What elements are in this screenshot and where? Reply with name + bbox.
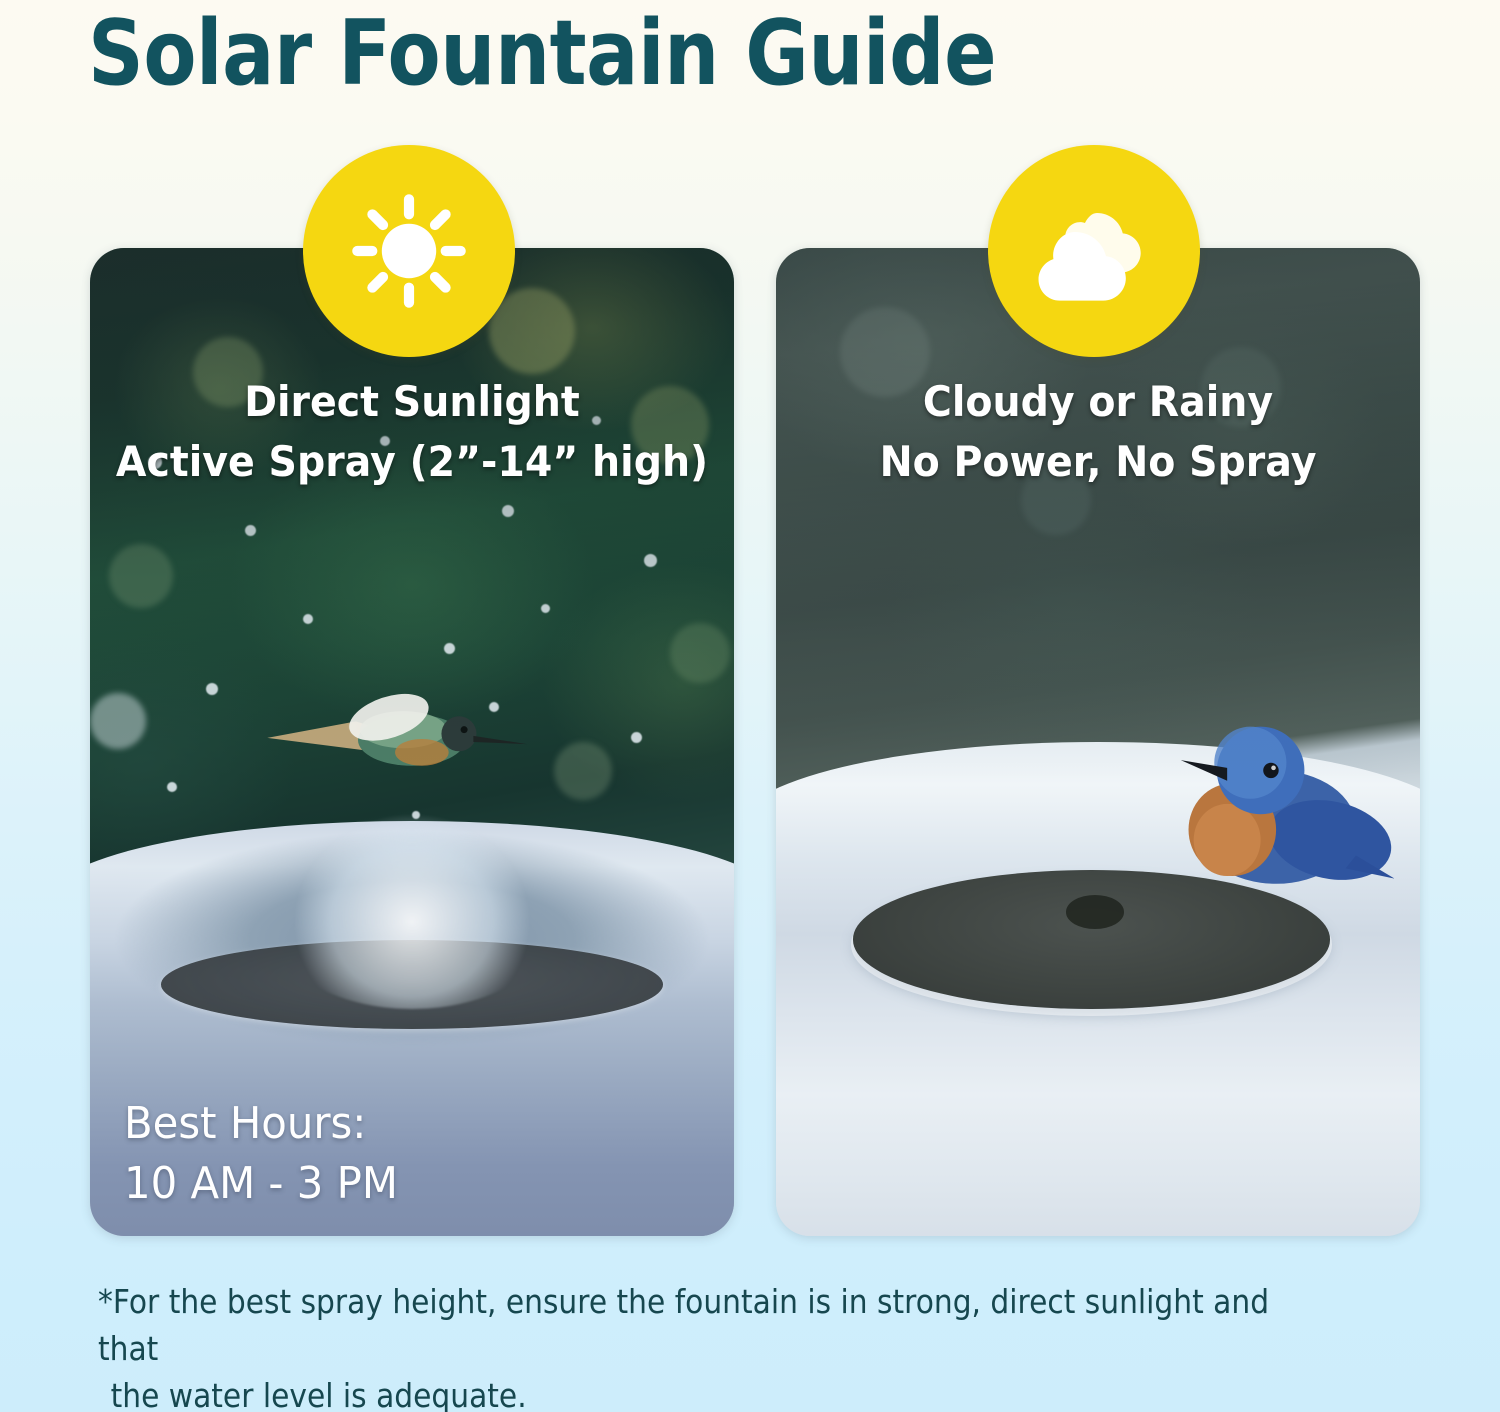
best-hours-label: Best Hours: [124, 1094, 398, 1154]
infographic-page: Solar Fountain Guide [0, 0, 1500, 1412]
bokeh-circle [670, 623, 730, 683]
bokeh-circle [109, 544, 173, 608]
footnote-line-2: the water level is adequate. [98, 1372, 1295, 1412]
water-droplet [245, 525, 256, 536]
water-droplet [303, 614, 313, 624]
page-title: Solar Fountain Guide [88, 2, 1232, 106]
hummingbird-icon [257, 663, 566, 821]
sun-icon [341, 183, 477, 319]
fountain-nozzle [1066, 895, 1124, 929]
water-droplet [631, 732, 642, 743]
caption-line-1: Cloudy or Rainy [923, 377, 1273, 426]
sun-badge [303, 145, 515, 357]
cloud-badge [988, 145, 1200, 357]
footnote-line-1: *For the best spray height, ensure the f… [98, 1282, 1269, 1368]
caption-line-2: Active Spray (2”-14” high) [109, 432, 714, 492]
water-droplet [206, 683, 218, 695]
best-hours-value: 10 AM - 3 PM [124, 1154, 398, 1214]
footnote: *For the best spray height, ensure the f… [98, 1278, 1295, 1412]
water-droplet [502, 505, 514, 517]
water-droplet [541, 604, 550, 613]
panel-cloudy-or-rainy: Cloudy or Rainy No Power, No Spray [776, 248, 1420, 1236]
bokeh-circle [90, 693, 146, 749]
caption-line-1: Direct Sunlight [244, 377, 580, 426]
water-droplet [444, 643, 455, 654]
water-droplet [167, 782, 177, 792]
panel-direct-sunlight: Direct Sunlight Active Spray (2”-14” hig… [90, 248, 734, 1236]
bluebird-icon [1137, 683, 1395, 930]
water-droplet [644, 554, 657, 567]
cloud-icon [1021, 178, 1167, 324]
panel-caption: Direct Sunlight Active Spray (2”-14” hig… [109, 372, 714, 492]
water-spray [270, 791, 553, 1008]
best-hours-block: Best Hours: 10 AM - 3 PM [124, 1094, 398, 1214]
panel-caption: Cloudy or Rainy No Power, No Spray [795, 372, 1400, 492]
caption-line-2: No Power, No Spray [795, 432, 1400, 492]
